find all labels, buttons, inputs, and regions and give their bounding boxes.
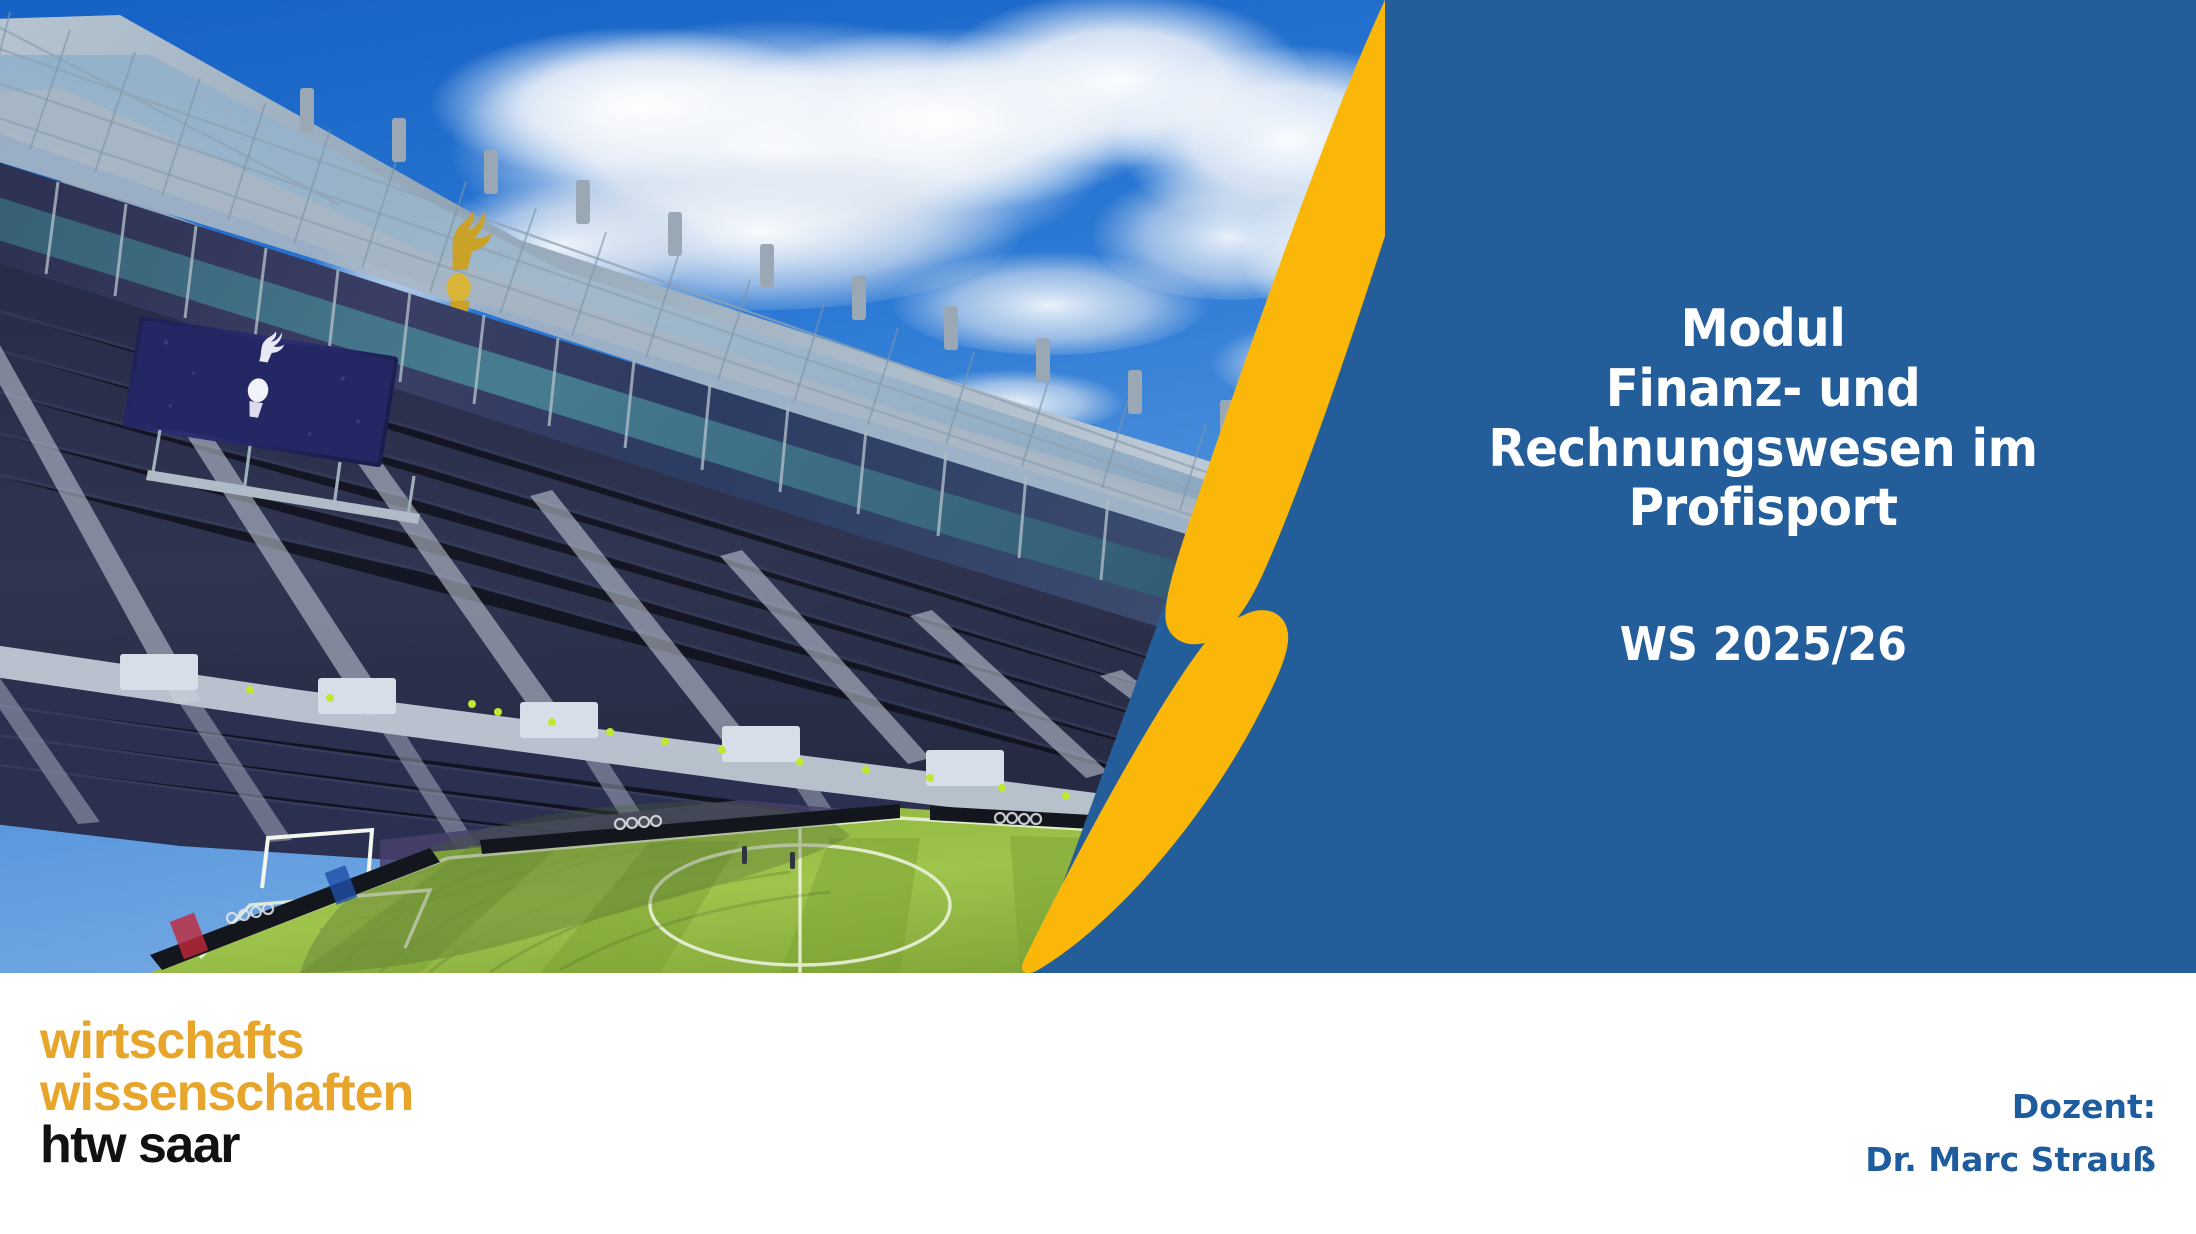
logo-line-wissenschaften: wissenschaften (40, 1067, 413, 1119)
lecturer-name: Dr. Marc Strauß (1865, 1134, 2156, 1187)
title-line-3: Profisport (1382, 479, 2145, 539)
title-block: Modul Finanz- und Rechnungswesen im Prof… (1330, 0, 2196, 973)
title-line-1: Modul (1382, 300, 2145, 360)
footer-bar: wirtschafts wissenschaften htw saar Doze… (0, 973, 2196, 1234)
lecturer-info: Dozent: Dr. Marc Strauß (1865, 1081, 2156, 1187)
logo-line-htw-saar: htw saar (40, 1119, 413, 1171)
title-slide: Modul Finanz- und Rechnungswesen im Prof… (0, 0, 2196, 1234)
lecturer-role-label: Dozent: (1865, 1081, 2156, 1134)
logo-line-wirtschafts: wirtschafts (40, 1015, 413, 1067)
semester-label: WS 2025/26 (1619, 539, 1906, 672)
hero-band: Modul Finanz- und Rechnungswesen im Prof… (0, 0, 2196, 973)
module-title: Modul Finanz- und Rechnungswesen im Prof… (1382, 300, 2145, 539)
htw-saar-logo: wirtschafts wissenschaften htw saar (40, 1015, 413, 1171)
title-line-2: Finanz- und Rechnungswesen im (1382, 360, 2145, 480)
